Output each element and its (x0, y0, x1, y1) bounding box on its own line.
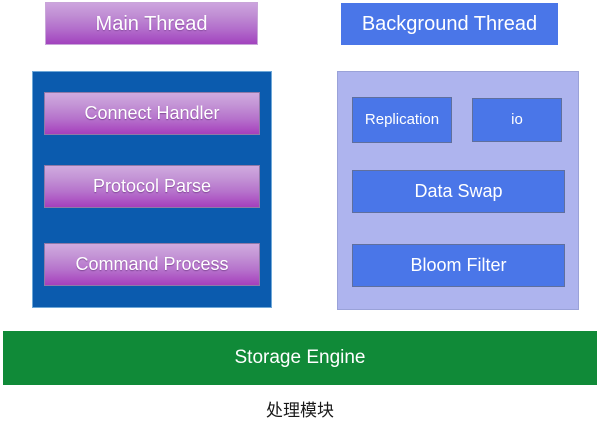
block-io: io (472, 98, 562, 142)
block-data-swap: Data Swap (352, 170, 565, 213)
architecture-diagram: Main Thread Background Thread Connect Ha… (0, 0, 600, 439)
block-connect-handler: Connect Handler (44, 92, 260, 135)
diagram-caption: 处理模块 (0, 396, 600, 421)
block-replication: Replication (352, 97, 452, 143)
block-bloom-filter: Bloom Filter (352, 244, 565, 287)
block-protocol-parse: Protocol Parse (44, 165, 260, 208)
header-main-thread: Main Thread (45, 2, 258, 45)
block-command-process: Command Process (44, 243, 260, 286)
block-storage-engine: Storage Engine (3, 331, 597, 385)
header-background-thread: Background Thread (341, 3, 558, 45)
